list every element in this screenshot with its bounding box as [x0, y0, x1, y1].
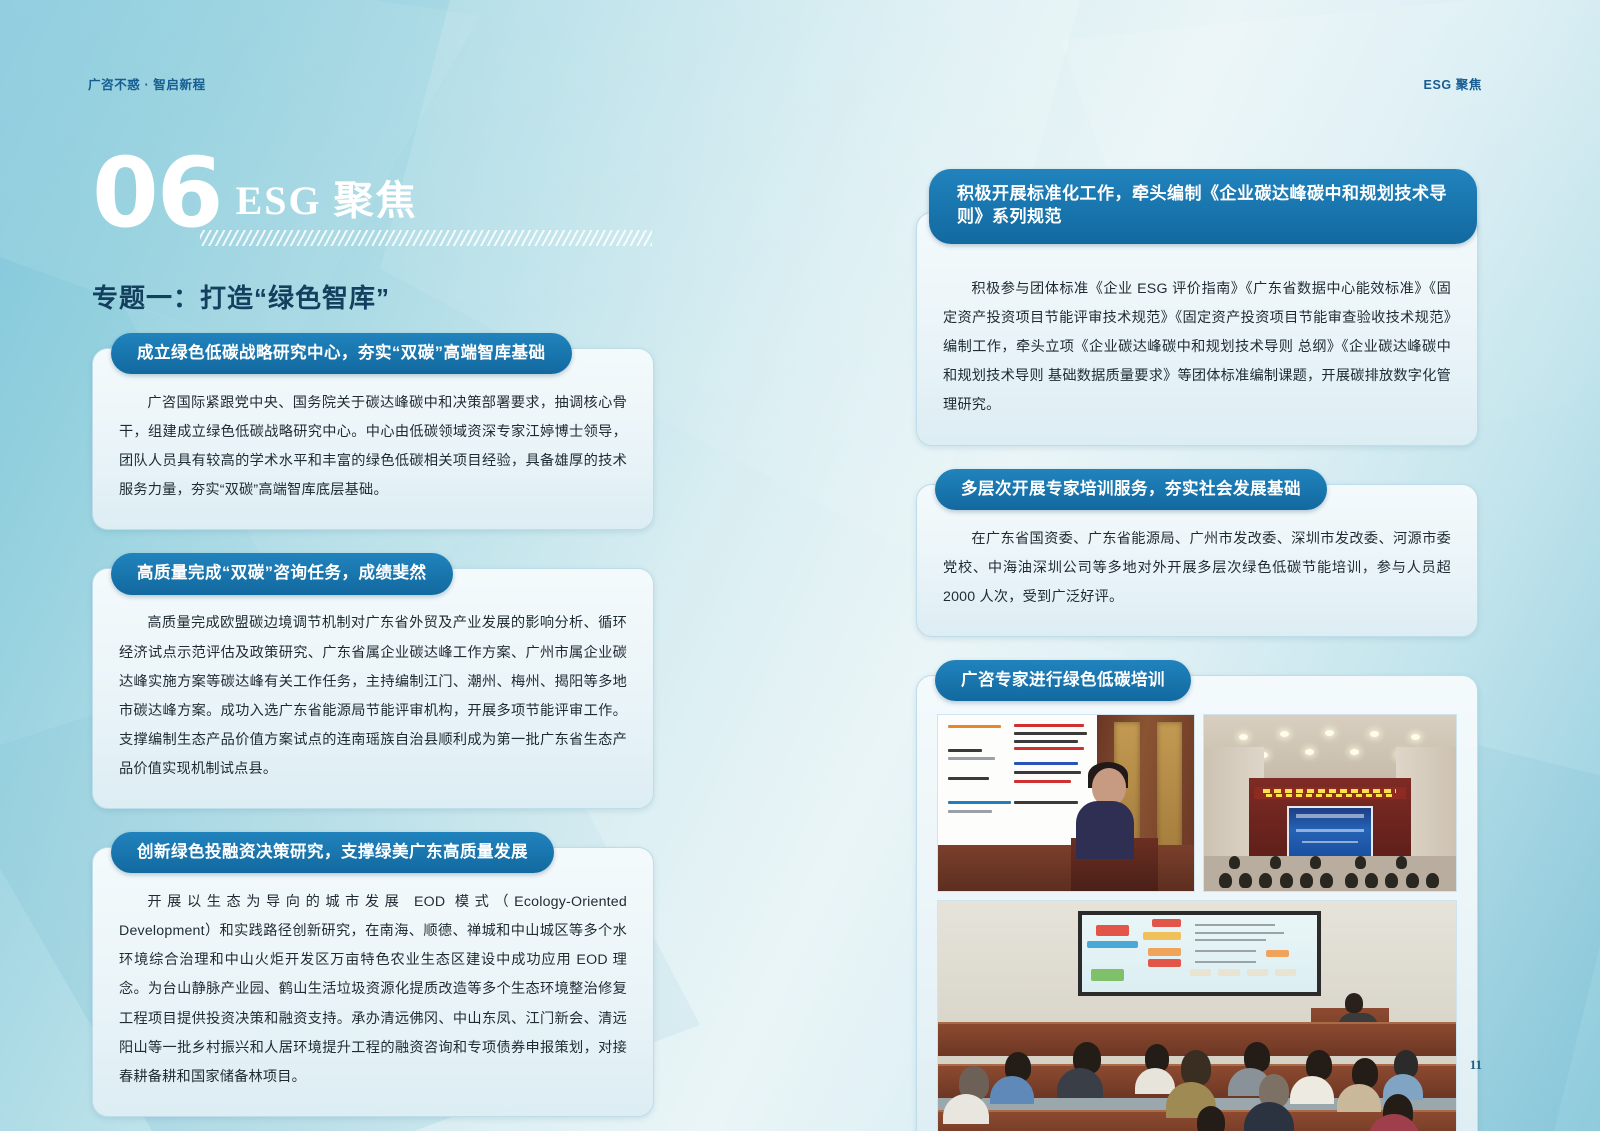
gallery-photo-speaker[interactable]: [937, 714, 1195, 892]
section-number: 06: [92, 152, 222, 235]
content-card: 积极开展标准化工作，牵头编制《企业碳达峰碳中和规划技术导则》系列规范 积极参与团…: [916, 212, 1478, 446]
content-card: 创新绿色投融资决策研究，支撑绿美广东高质量发展 开展以生态为导向的城市发展 EO…: [92, 847, 654, 1117]
page-number: 11: [1470, 1057, 1482, 1073]
card-body: 开展以生态为导向的城市发展 EOD 模式（Ecology-Oriented De…: [119, 888, 627, 1092]
card-badge: 成立绿色低碳战略研究中心，夯实“双碳”高端智库基础: [111, 333, 572, 374]
card-body: 高质量完成欧盟碳边境调节机制对广东省外贸及产业发展的影响分析、循环经济试点示范评…: [119, 609, 627, 784]
content-card: 多层次开展专家培训服务，夯实社会发展基础 在广东省国资委、广东省能源局、广州市发…: [916, 484, 1478, 637]
gallery-photo-conference-hall[interactable]: [1203, 714, 1457, 892]
content-card: 高质量完成“双碳”咨询任务，成绩斐然 高质量完成欧盟碳边境调节机制对广东省外贸及…: [92, 568, 654, 809]
card-body: 积极参与团体标准《企业 ESG 评价指南》《广东省数据中心能效标准》《固定资产投…: [943, 275, 1451, 421]
right-column: 积极开展标准化工作，牵头编制《企业碳达峰碳中和规划技术导则》系列规范 积极参与团…: [916, 168, 1478, 1131]
card-body: 广咨国际紧跟党中央、国务院关于碳达峰碳中和决策部署要求，抽调核心骨干，组建成立绿…: [119, 389, 627, 505]
card-badge: 多层次开展专家培训服务，夯实社会发展基础: [935, 469, 1327, 510]
photo-gallery: [937, 714, 1457, 1131]
page-title: 专题一：打造“绿色智库”: [92, 278, 390, 315]
running-head-left: 广咨不惑 · 智启新程: [88, 74, 206, 93]
left-column: 成立绿色低碳战略研究中心，夯实“双碳”高端智库基础 广咨国际紧跟党中央、国务院关…: [92, 348, 654, 1131]
stripe-decoration-icon: [200, 230, 652, 246]
running-head-right: ESG 聚焦: [1424, 74, 1482, 93]
card-badge: 创新绿色投融资决策研究，支撑绿美广东高质量发展: [111, 832, 554, 873]
gallery-badge: 广咨专家进行绿色低碳培训: [935, 660, 1191, 701]
section-name: ESG 聚焦: [236, 168, 418, 226]
content-card: 成立绿色低碳战略研究中心，夯实“双碳”高端智库基础 广咨国际紧跟党中央、国务院关…: [92, 348, 654, 530]
card-badge: 高质量完成“双碳”咨询任务，成绩斐然: [111, 553, 453, 594]
gallery-photo-seminar-room[interactable]: [937, 900, 1457, 1131]
card-badge: 积极开展标准化工作，牵头编制《企业碳达峰碳中和规划技术导则》系列规范: [929, 169, 1477, 244]
section-title-block: 06 ESG 聚焦: [92, 152, 712, 235]
photo-gallery-card: 广咨专家进行绿色低碳培训: [916, 675, 1478, 1131]
page-root: 广咨不惑 · 智启新程 ESG 聚焦 06 ESG 聚焦 专题一：打造“绿色智库…: [0, 0, 1600, 1131]
card-body: 在广东省国资委、广东省能源局、广州市发改委、深圳市发改委、河源市委党校、中海油深…: [943, 525, 1451, 612]
